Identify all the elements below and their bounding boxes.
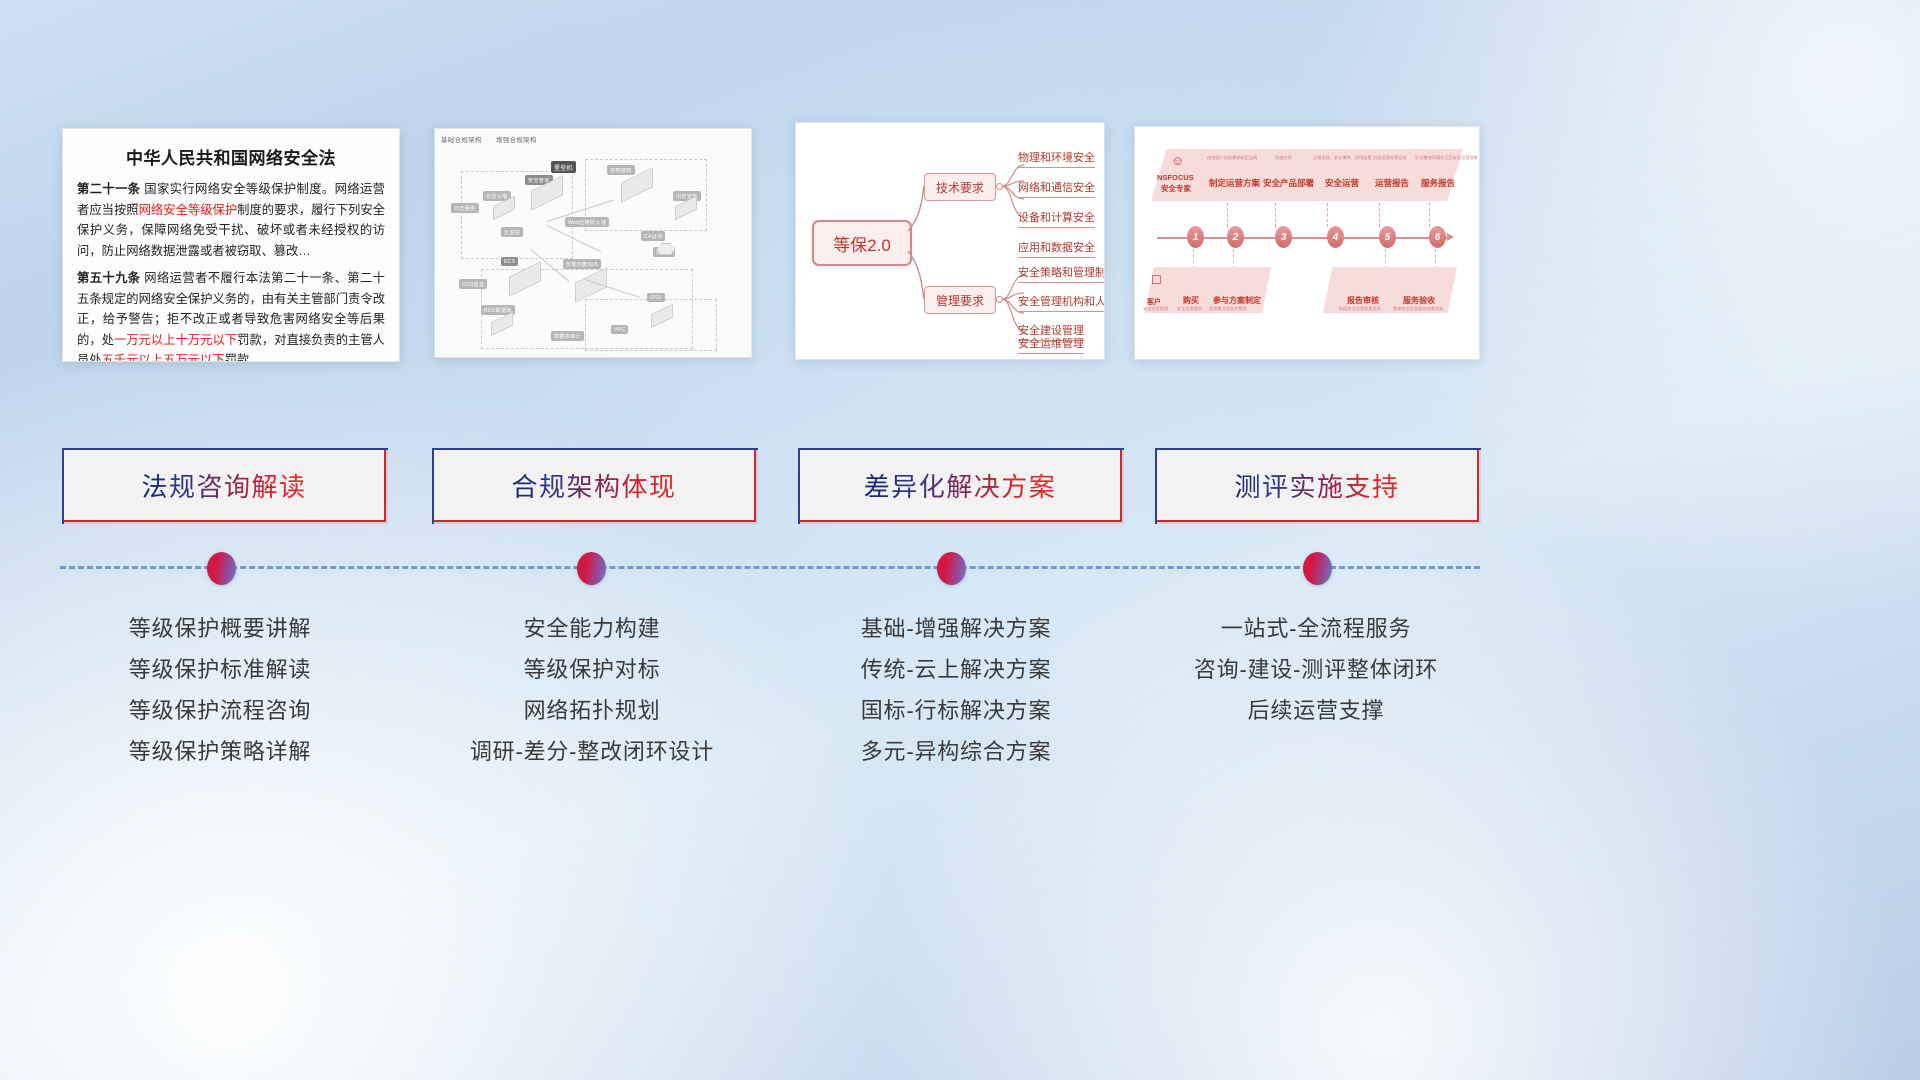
process-step-5[interactable]: 5 — [1379, 226, 1396, 248]
mindmap-node-dot-1[interactable] — [996, 183, 1003, 190]
list-item: 一站式-全流程服务 — [1146, 608, 1486, 649]
mindmap-branch-management: 管理要求 — [924, 286, 996, 314]
tick-b3 — [1385, 249, 1387, 269]
slide-canvas: 中华人民共和国网络安全法 第二十一条 国家实行网络安全等级保护制度。网络运营者应… — [0, 0, 1920, 1080]
list-item: 传统-云上解决方案 — [786, 649, 1126, 690]
process-step-4[interactable]: 4 — [1327, 226, 1344, 248]
mindmap-leaf-t3: 设备和计算安全 — [1018, 211, 1095, 228]
list-item: 调研-差分-整改闭环设计 — [422, 731, 762, 772]
bullet-column-2: 安全能力构建 等级保护对标 网络拓扑规划 调研-差分-整改闭环设计 — [422, 608, 762, 772]
top-step-caption-4: 阶段运营效果呈现 — [1373, 155, 1407, 161]
list-item: 等级保护策略详解 — [50, 731, 390, 772]
arch-chip-6: Web应用防火墙 — [565, 217, 609, 227]
tick-4 — [1379, 203, 1381, 227]
law-article-59-text-c: 罚款。 — [225, 353, 262, 362]
law-body: 中华人民共和国网络安全法 第二十一条 国家实行网络安全等级保护制度。网络运营者应… — [63, 129, 399, 361]
mindmap-card: 等保2.0 技术要求 物理和环境安全 网络和通信安全 设备和计算安全 应用和数据… — [795, 122, 1105, 360]
timeline-dot-3[interactable] — [937, 552, 966, 585]
mindmap-leaf-t4: 应用和数据安全 — [1018, 241, 1095, 258]
top-step-title-4: 运营报告 — [1375, 177, 1409, 189]
arch-chip-8: CA证书 — [641, 231, 665, 241]
bottom-right-title-1: 报告审核 — [1347, 295, 1379, 306]
arch-chip-12: OSS — [647, 293, 665, 302]
process-arrow-icon — [1447, 233, 1454, 241]
tick-b2 — [1233, 249, 1235, 269]
list-item: 等级保护标准解读 — [50, 649, 390, 690]
list-item: 咨询-建设-测评整体闭环 — [1146, 649, 1486, 690]
process-step-3[interactable]: 3 — [1275, 226, 1292, 248]
top-step-caption-5: 针对整改项落实之后安全运营效果 — [1415, 155, 1478, 161]
client-sub: 安全运营管理 — [1143, 306, 1168, 312]
bottom-right-caption-1: 阶段安全运营效果呈现 — [1339, 306, 1381, 312]
top-step-title-5: 服务报告 — [1421, 177, 1455, 189]
headline-text-2: 合规架构体现 — [511, 467, 676, 504]
headline-box-2[interactable]: 合规架构体现 — [432, 448, 756, 522]
list-item: 等级保护流程咨询 — [50, 690, 390, 731]
headline-text-1: 法规咨询解读 — [141, 467, 306, 504]
timeline-dot-2[interactable] — [577, 552, 606, 585]
process-step-6[interactable]: 6 — [1429, 226, 1446, 248]
law-paragraph-21: 第二十一条 国家实行网络安全等级保护制度。网络运营者应当按照网络安全等级保护制度… — [77, 179, 385, 261]
tick-b1 — [1193, 249, 1195, 269]
mindmap-leaf-m2: 安全管理机构和人员 — [1018, 295, 1105, 312]
headline-box-4[interactable]: 测评实施支持 — [1155, 448, 1479, 522]
service-process-card: ☺ NSFOCUS 安全专家 结合客户实际需求制定出具 制定运营方案 实施方案 … — [1134, 126, 1480, 360]
architecture-diagram: 基础合规架构 增强合规架构 堡垒机 安全管家 态势感知 云防火墙 日志服务 内容… — [435, 129, 751, 357]
arch-chip-10: ECS — [501, 257, 518, 266]
bottom-left-caption-1: 安全运营服务 — [1177, 306, 1202, 312]
legend-basic: 基础合规架构 — [441, 137, 482, 144]
list-item: 后续运营支撑 — [1146, 690, 1486, 731]
timeline-dashed-line — [60, 566, 1480, 569]
architecture-legend: 基础合规架构 增强合规架构 — [441, 134, 549, 144]
bottom-left-title-1: 购买 — [1183, 295, 1199, 306]
client-person-icon: ☐ — [1151, 273, 1162, 287]
arch-chip-7: 云监控 — [501, 227, 523, 237]
tick-b4 — [1435, 249, 1437, 269]
list-item: 国标-行标解决方案 — [786, 690, 1126, 731]
law-article-59-highlight-1: 一万元以上十万元以下 — [114, 333, 237, 347]
arch-chip-11: 负载均衡SLB — [563, 259, 601, 269]
headline-box-1[interactable]: 法规咨询解读 — [62, 448, 386, 522]
mindmap-node-dot-2[interactable] — [996, 296, 1003, 303]
list-item: 等级保护对标 — [422, 649, 762, 690]
law-article-59-label: 第五十九条 — [77, 271, 140, 285]
list-item: 基础-增强解决方案 — [786, 608, 1126, 649]
mindmap-leaf-m1: 安全策略和管理制度 — [1018, 266, 1105, 283]
arch-chip-14: OSS堡垒 — [459, 279, 487, 289]
bottom-right-title-2: 服务验收 — [1403, 295, 1435, 306]
bullet-column-4: 一站式-全流程服务 咨询-建设-测评整体闭环 后续运营支撑 — [1146, 608, 1486, 731]
mindmap: 等保2.0 技术要求 物理和环境安全 网络和通信安全 设备和计算安全 应用和数据… — [796, 123, 1104, 359]
mindmap-leaf-m4: 安全运维管理 — [1018, 337, 1084, 354]
arch-chip-16: 数据库审计 — [551, 331, 584, 341]
list-item: 安全能力构建 — [422, 608, 762, 649]
law-paragraph-59: 第五十九条 网络运营者不履行本法第二十一条、第二十五条规定的网络安全保护义务的，… — [77, 268, 385, 362]
mindmap-leaf-t2: 网络和通信安全 — [1018, 181, 1095, 198]
bullet-column-1: 等级保护概要讲解 等级保护标准解读 等级保护流程咨询 等级保护策略详解 — [50, 608, 390, 772]
list-item: 等级保护概要讲解 — [50, 608, 390, 649]
list-item: 多元-异构综合方案 — [786, 731, 1126, 772]
headline-text-4: 测评实施支持 — [1234, 467, 1399, 504]
legend-enhanced: 增强合规架构 — [496, 137, 537, 144]
headline-text-3: 差异化解决方案 — [864, 467, 1057, 504]
top-step-title-3: 安全运营 — [1325, 177, 1359, 189]
tick-3 — [1327, 203, 1329, 227]
expert-person-icon: ☺ — [1171, 153, 1184, 168]
brand-name: NSFOCUS — [1157, 173, 1194, 182]
brand-subtitle: 安全专家 — [1161, 183, 1191, 194]
tick-1 — [1227, 203, 1229, 227]
top-step-title-1: 制定运营方案 — [1209, 177, 1260, 189]
law-article-59-highlight-2: 五千元以上五万元以下 — [102, 353, 225, 362]
law-text-card: 中华人民共和国网络安全法 第二十一条 国家实行网络安全等级保护制度。网络运营者应… — [62, 128, 400, 362]
mindmap-branch-technical: 技术要求 — [924, 173, 996, 201]
headline-box-3[interactable]: 差异化解决方案 — [798, 448, 1122, 522]
arch-chip-4: 日志服务 — [451, 203, 479, 213]
process-step-2[interactable]: 2 — [1227, 226, 1244, 248]
law-article-21-highlight: 网络安全等级保护 — [139, 203, 238, 217]
arch-chip-15: VPC — [611, 325, 628, 334]
law-title: 中华人民共和国网络安全法 — [77, 144, 385, 169]
bottom-left-title-2: 参与方案制定 — [1213, 295, 1261, 306]
timeline-dot-4[interactable] — [1303, 552, 1332, 585]
law-article-21-label: 第二十一条 — [77, 182, 140, 196]
timeline-dot-1[interactable] — [207, 552, 236, 585]
top-step-caption-1: 结合客户实际需求制定出具 — [1207, 155, 1257, 161]
process-step-1[interactable]: 1 — [1187, 226, 1204, 248]
tick-2 — [1275, 203, 1277, 227]
top-step-caption-2: 实施方案 — [1275, 155, 1292, 161]
arch-chip-2: 态势感知 — [607, 165, 635, 175]
bullet-column-3: 基础-增强解决方案 传统-云上解决方案 国标-行标解决方案 多元-异构综合方案 — [786, 608, 1126, 772]
cloud-architecture-card: 基础合规架构 增强合规架构 堡垒机 安全管家 态势感知 云防火墙 日志服务 内容… — [434, 128, 752, 358]
list-item: 网络拓扑规划 — [422, 690, 762, 731]
top-step-caption-3: 日常巡检、安全事件、应用处置 — [1313, 155, 1372, 161]
process-diagram: ☺ NSFOCUS 安全专家 结合客户实际需求制定出具 制定运营方案 实施方案 … — [1135, 127, 1479, 359]
mindmap-leaf-t1: 物理和环境安全 — [1018, 151, 1095, 168]
bottom-right-caption-2: 整体安全运营服务效果验收 — [1393, 306, 1443, 312]
top-step-title-2: 安全产品部署 — [1263, 177, 1314, 189]
bottom-left-caption-2: 提供重点及防护要求 — [1209, 306, 1247, 312]
tick-5 — [1429, 203, 1431, 227]
arch-chip-0: 堡垒机 — [551, 161, 576, 173]
